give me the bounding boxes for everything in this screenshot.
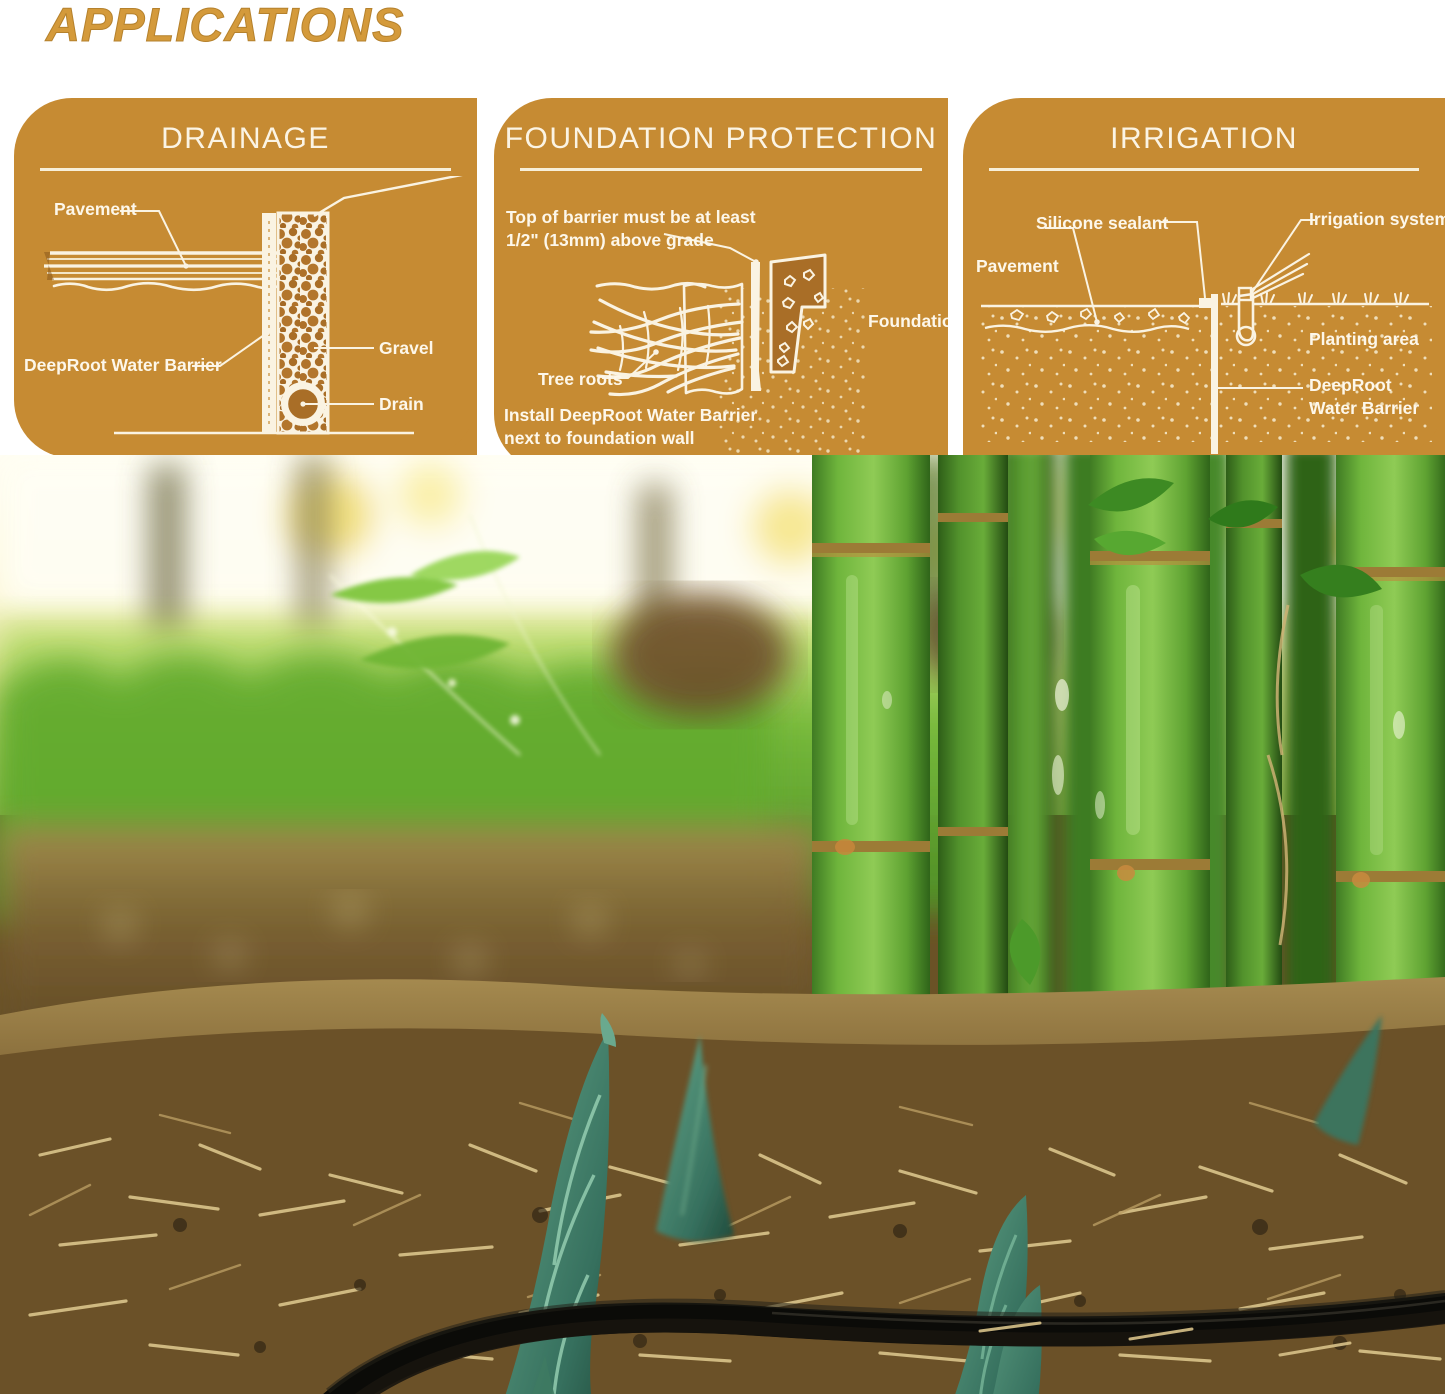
- label-drain: Drain: [379, 393, 424, 416]
- label-foundation: Foundation: [868, 310, 948, 333]
- label-deeproot-water-barrier: DeepRoot Water Barrier: [24, 354, 222, 377]
- panel-drainage-title: DRAINAGE: [14, 122, 477, 156]
- label-gravel: Gravel: [379, 337, 433, 360]
- label-irrigation-system: Irrigation system: [1309, 208, 1445, 231]
- label-tree-roots: Tree roots: [538, 368, 623, 391]
- page-title: APPLICATIONS: [46, 0, 404, 52]
- foundation-diagram: Top of barrier must be at least1/2" (13m…: [494, 176, 948, 472]
- panel-drainage: DRAINAGE: [14, 98, 477, 458]
- label-silicone-sealant: Silicone sealant: [1036, 212, 1168, 235]
- label-planting-area: Planting area: [1309, 328, 1419, 351]
- panel-divider: [40, 168, 451, 171]
- product-photo-bamboo-grove: [0, 455, 1445, 1394]
- infographic-root: APPLICATIONS DRAINAGE: [0, 0, 1445, 1394]
- label-pavement: Pavement: [976, 255, 1059, 278]
- panel-foundation-title: FOUNDATION PROTECTION: [494, 122, 948, 156]
- panel-foundation: FOUNDATION PROTECTION: [494, 98, 948, 472]
- label-top-of-barrier-note: Top of barrier must be at least1/2" (13m…: [506, 206, 756, 252]
- panel-irrigation-title: IRRIGATION: [963, 122, 1445, 156]
- label-install-instruction: Install DeepRoot Water Barriernext to fo…: [504, 404, 757, 450]
- panel-divider: [989, 168, 1419, 171]
- panel-irrigation: IRRIGATION: [963, 98, 1445, 458]
- irrigation-diagram: Silicone sealant Irrigation system Pavem…: [963, 176, 1445, 458]
- drainage-diagram: Pavement DeepRoot Water Barrier Gravel D…: [14, 176, 477, 458]
- label-deeproot-water-barrier: DeepRootWater Barrier: [1309, 374, 1419, 420]
- label-pavement: Pavement: [54, 198, 137, 221]
- panel-divider: [520, 168, 922, 171]
